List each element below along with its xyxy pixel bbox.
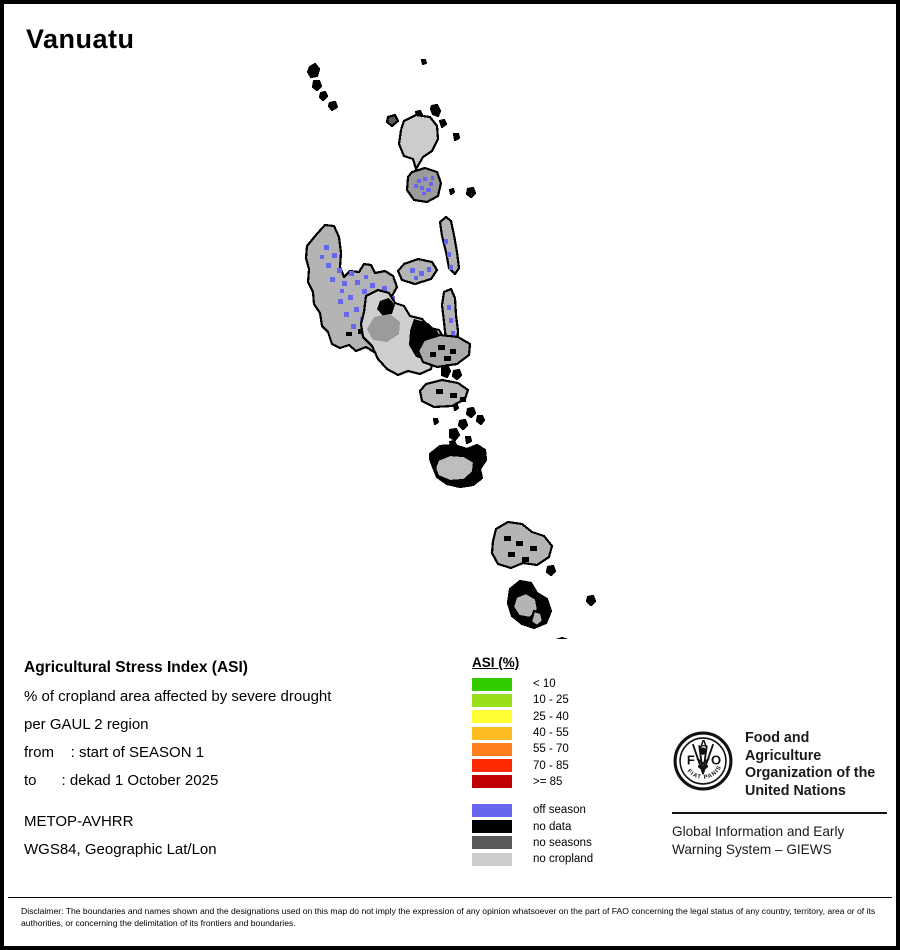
fao-divider (672, 812, 887, 814)
legend-label: 70 - 85 (533, 760, 569, 772)
legend-item: 25 - 40 (472, 709, 652, 725)
asi-description-2: per GAUL 2 region (24, 716, 444, 733)
legend-item: 40 - 55 (472, 725, 652, 741)
legend-item: >= 85 (472, 774, 652, 790)
legend-item: < 10 (472, 676, 652, 692)
island-shepherds (434, 405, 484, 443)
legend-item-special: no data (472, 818, 652, 834)
svg-text:A: A (699, 739, 708, 752)
legend-swatch (472, 694, 512, 707)
legend-label: off season (533, 804, 586, 816)
map-page: Vanuatu (0, 0, 900, 950)
island-erromango (492, 522, 552, 568)
legend-swatch (472, 727, 512, 740)
legend-item-special: no seasons (472, 835, 652, 851)
legend-label: >= 85 (533, 776, 562, 788)
vanuatu-map (254, 49, 674, 639)
island-banks-small (387, 115, 398, 126)
legend-item-special: no cropland (472, 851, 652, 867)
island-epi (420, 380, 468, 407)
asi-legend-title: ASI (%) (472, 655, 652, 670)
legend-label: 25 - 40 (533, 711, 569, 723)
info-spacer (24, 800, 444, 813)
island-torres (308, 64, 337, 110)
disclaimer-text: Disclaimer: The boundaries and names sho… (21, 905, 882, 930)
legend-swatch (472, 710, 512, 723)
map-info-block: Agricultural Stress Index (ASI) % of cro… (24, 659, 444, 869)
fao-branding: F A O FIAT PANIS Food and Agriculture Or… (672, 730, 887, 858)
legend-label: 10 - 25 (533, 694, 569, 706)
fao-org-line-3: United Nations (745, 783, 887, 801)
sensor-label: METOP-AVHRR (24, 813, 444, 830)
fao-org-line-2: Organization of the (745, 765, 887, 783)
asi-legend: ASI (%) < 10 10 - 25 25 - 40 40 - 55 55 … (472, 655, 652, 867)
giews-line-2: Warning System – GIEWS (672, 841, 887, 859)
legend-swatch (472, 775, 512, 788)
legend-item: 55 - 70 (472, 741, 652, 757)
map-islands (306, 60, 595, 639)
fao-logo-icon: F A O FIAT PANIS (672, 730, 734, 792)
island-aneityum (546, 638, 577, 639)
legend-label: no data (533, 821, 571, 833)
island-aniwa (547, 566, 595, 605)
legend-item: 70 - 85 (472, 757, 652, 773)
svg-text:F: F (687, 753, 695, 768)
legend-swatch (472, 678, 512, 691)
island-vanua-lava (399, 115, 438, 169)
island-ambrym (418, 335, 470, 367)
legend-label: 40 - 55 (533, 727, 569, 739)
asi-description-1: % of cropland area affected by severe dr… (24, 688, 444, 705)
giews-line-1: Global Information and Early (672, 823, 887, 841)
period-to: to : dekad 1 October 2025 (24, 772, 444, 789)
island-mere-lava (450, 188, 475, 197)
projection-label: WGS84, Geographic Lat/Lon (24, 841, 444, 858)
legend-swatch (472, 853, 512, 866)
legend-label: < 10 (533, 678, 556, 690)
island-efate (430, 441, 486, 487)
legend-item: 10 - 25 (472, 692, 652, 708)
legend-label: no seasons (533, 837, 592, 849)
island-maewo (440, 217, 459, 274)
legend-swatch (472, 743, 512, 756)
period-from: from : start of SEASON 1 (24, 744, 444, 761)
fao-org-line-1: Food and Agriculture (745, 730, 887, 765)
legend-swatch (472, 820, 512, 833)
island-gaua (407, 168, 441, 202)
island-tanna (508, 581, 551, 628)
asi-heading: Agricultural Stress Index (ASI) (24, 659, 444, 677)
legend-label: no cropland (533, 853, 593, 865)
legend-label: 55 - 70 (533, 743, 569, 755)
island-ambae (398, 259, 437, 284)
legend-swatch (472, 759, 512, 772)
legend-spacer (472, 790, 652, 802)
legend-swatch (472, 804, 512, 817)
island-paama (442, 365, 461, 379)
page-title: Vanuatu (26, 24, 135, 55)
disclaimer-divider (8, 897, 892, 898)
legend-swatch (472, 836, 512, 849)
legend-item-special: off season (472, 802, 652, 818)
